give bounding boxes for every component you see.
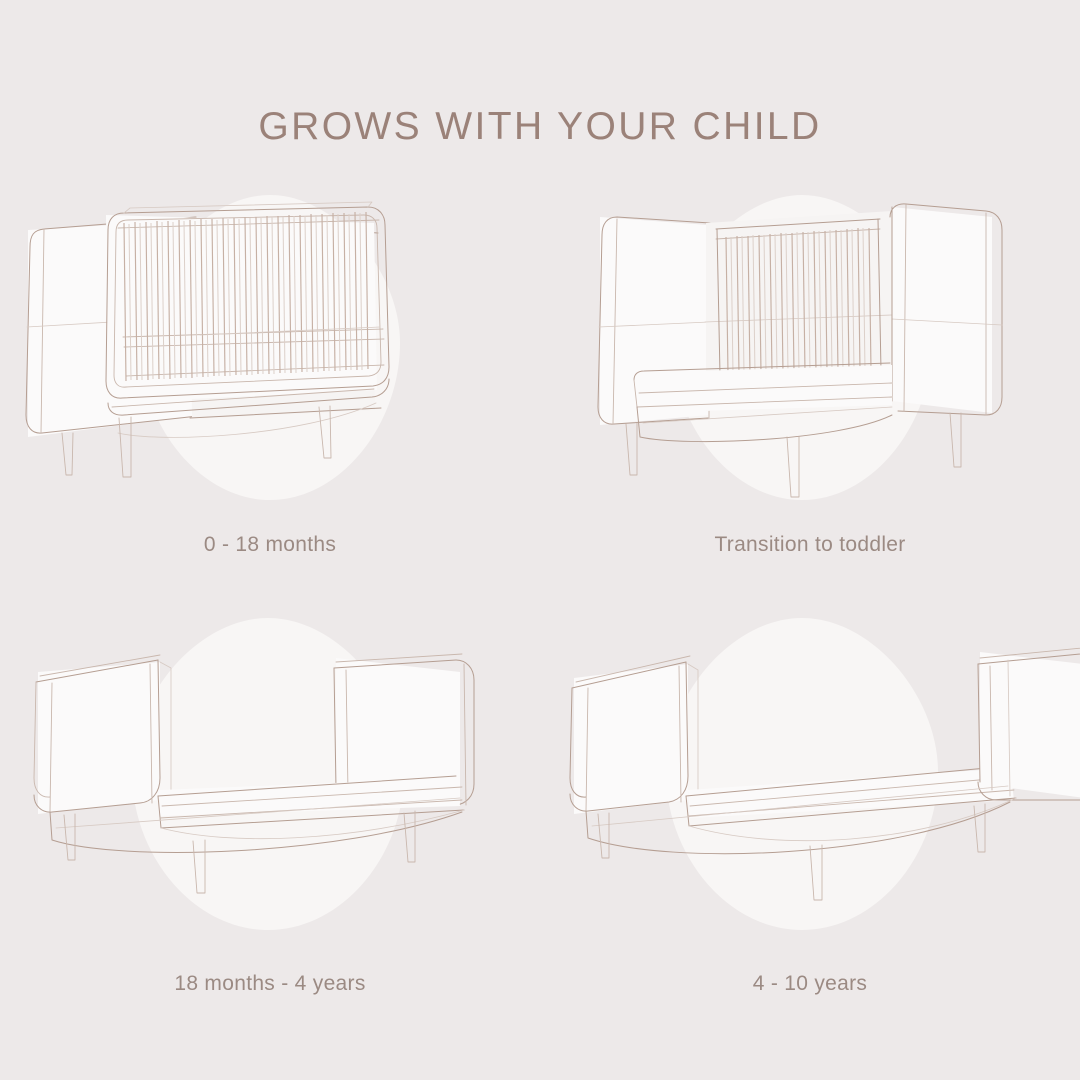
- fullbed-illustration: [540, 600, 1080, 955]
- infographic-page: GROWS WITH YOUR CHILD: [0, 0, 1080, 1080]
- daybed-leg-right: [404, 811, 415, 862]
- toddler-leg-right: [950, 413, 961, 467]
- crib-svg: [0, 175, 540, 530]
- fullbed-svg: [540, 600, 1080, 955]
- crib-leg-mid: [119, 417, 131, 477]
- page-title: GROWS WITH YOUR CHILD: [0, 105, 1080, 149]
- background-blob-icon: [666, 618, 938, 930]
- toddler-leg-left: [626, 423, 637, 475]
- toddler-illustration: [540, 175, 1080, 530]
- toddler-svg: [540, 175, 1080, 530]
- stage-label-crib: 0 - 18 months: [0, 533, 540, 557]
- crib-illustration: [0, 175, 540, 530]
- stage-item-toddler[interactable]: Transition to toddler: [540, 175, 1080, 600]
- fullbed-leg-right: [974, 804, 985, 852]
- daybed-svg: [0, 600, 540, 955]
- stage-label-toddler: Transition to toddler: [540, 533, 1080, 557]
- stage-label-fullbed: 4 - 10 years: [540, 972, 1080, 996]
- stage-item-crib[interactable]: 0 - 18 months: [0, 175, 540, 600]
- daybed-illustration: [0, 600, 540, 955]
- fullbed-leg-left: [598, 813, 609, 858]
- stage-item-daybed[interactable]: 18 months - 4 years: [0, 600, 540, 1025]
- stage-item-fullbed[interactable]: 4 - 10 years: [540, 600, 1080, 1025]
- stage-label-daybed: 18 months - 4 years: [0, 972, 540, 996]
- stage-grid: 0 - 18 months: [0, 175, 1080, 1055]
- crib-leg-left: [62, 433, 73, 475]
- daybed-leg-left: [64, 814, 75, 860]
